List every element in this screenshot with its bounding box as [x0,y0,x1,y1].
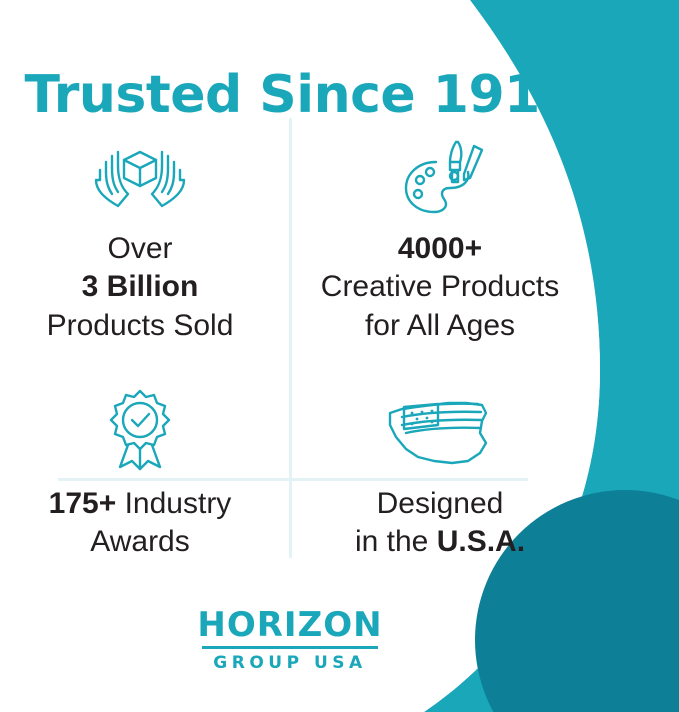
feature-caption: Over 3 Billion Products Sold [0,230,280,345]
hands-holding-box-icon [0,130,280,216]
feature-line-1: Designed [377,487,504,520]
paint-palette-icon [300,130,580,216]
feature-line-2: in the [355,525,428,558]
feature-line-2: Industry [125,487,232,520]
brand-logo: HORIZON GROUP USA [0,608,580,672]
feature-line-2: Creative Products [321,270,559,303]
infographic-page: Trusted Since 1912 [0,0,679,712]
feature-grid: Over 3 Billion Products Sold [0,120,600,590]
feature-line-1: 175+ [49,487,117,520]
logo-rule [202,646,378,649]
feature-item-industry-awards: 175+ Industry Awards [0,385,280,562]
feature-line-3: Products Sold [47,309,234,342]
logo-tagline: GROUP USA [0,655,580,672]
usa-map-flag-icon [300,385,580,471]
feature-item-products-sold: Over 3 Billion Products Sold [0,130,280,345]
feature-line-3: U.S.A. [437,525,525,558]
feature-line-1: 4000+ [398,232,482,265]
award-ribbon-check-icon [0,385,280,471]
page-title: Trusted Since 1912 [0,65,600,125]
feature-caption: 4000+ Creative Products for All Ages [300,230,580,345]
feature-line-3: for All Ages [365,309,515,342]
feature-item-designed-in-usa: Designed in the U.S.A. [300,385,580,562]
feature-item-creative-products: 4000+ Creative Products for All Ages [300,130,580,345]
feature-caption: Designed in the U.S.A. [300,485,580,562]
feature-line-3: Awards [90,525,190,558]
feature-line-1: Over [107,232,172,265]
feature-line-2: 3 Billion [82,270,199,303]
logo-wordmark: HORIZON [0,608,580,642]
feature-caption: 175+ Industry Awards [0,485,280,562]
